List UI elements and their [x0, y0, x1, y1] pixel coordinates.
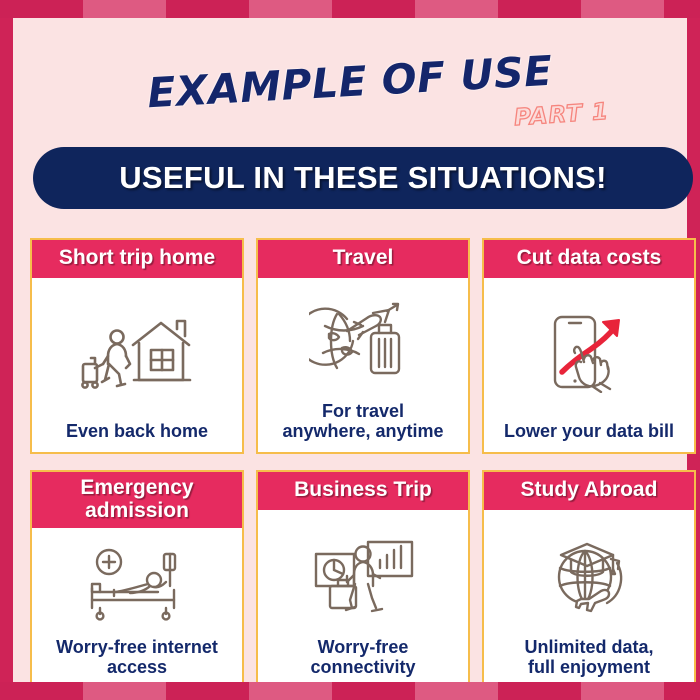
card-body: Even back home [32, 278, 242, 452]
card-caption: Worry-free internet access [56, 638, 218, 684]
card-header: Cut data costs [484, 240, 694, 278]
phone-tap-rising-arrow-icon [490, 280, 688, 423]
card-body: For travel anywhere, anytime [258, 278, 468, 452]
card-travel[interactable]: Travel [256, 238, 470, 454]
card-body: Worry-free connectivity [258, 510, 468, 692]
card-caption: Unlimited data, full enjoyment [524, 638, 653, 684]
card-header: Emergency admission [32, 472, 242, 528]
card-body: Unlimited data, full enjoyment [484, 510, 694, 692]
part-badge: PART 1 [513, 99, 610, 132]
card-cut-data-costs[interactable]: Cut data costs [482, 238, 696, 454]
poster-inner-panel: EXAMPLE OF USE PART 1 USEFUL IN THESE SI… [13, 14, 687, 686]
bottom-stripe-border [0, 682, 700, 700]
card-header: Business Trip [258, 472, 468, 510]
title-area: EXAMPLE OF USE PART 1 [13, 58, 687, 140]
situation-card-grid: Short trip home [30, 238, 696, 694]
businessperson-charts-icon [264, 512, 462, 639]
hospital-bed-patient-icon [38, 530, 236, 638]
card-caption: Lower your data bill [504, 422, 674, 444]
card-short-trip-home[interactable]: Short trip home [30, 238, 244, 454]
card-body: Lower your data bill [484, 278, 694, 452]
card-caption: Even back home [66, 422, 208, 444]
card-header: Travel [258, 240, 468, 278]
card-body: Worry-free internet access [32, 528, 242, 692]
card-business-trip[interactable]: Business Trip [256, 470, 470, 694]
poster-root: EXAMPLE OF USE PART 1 USEFUL IN THESE SI… [0, 0, 700, 700]
card-header: Short trip home [32, 240, 242, 278]
card-caption: Worry-free connectivity [310, 638, 415, 684]
traveler-with-suitcase-and-house-icon [38, 280, 236, 423]
globe-plane-suitcase-icon [264, 280, 462, 403]
card-caption: For travel anywhere, anytime [282, 402, 443, 444]
top-stripe-border [0, 0, 700, 18]
card-study-abroad[interactable]: Study Abroad [482, 470, 696, 694]
situations-banner: USEFUL IN THESE SITUATIONS! [33, 147, 693, 209]
card-emergency-admission[interactable]: Emergency admission [30, 470, 244, 694]
banner-title: USEFUL IN THESE SITUATIONS! [119, 160, 606, 196]
card-header: Study Abroad [484, 472, 694, 510]
graduation-cap-globe-plane-icon [490, 512, 688, 639]
